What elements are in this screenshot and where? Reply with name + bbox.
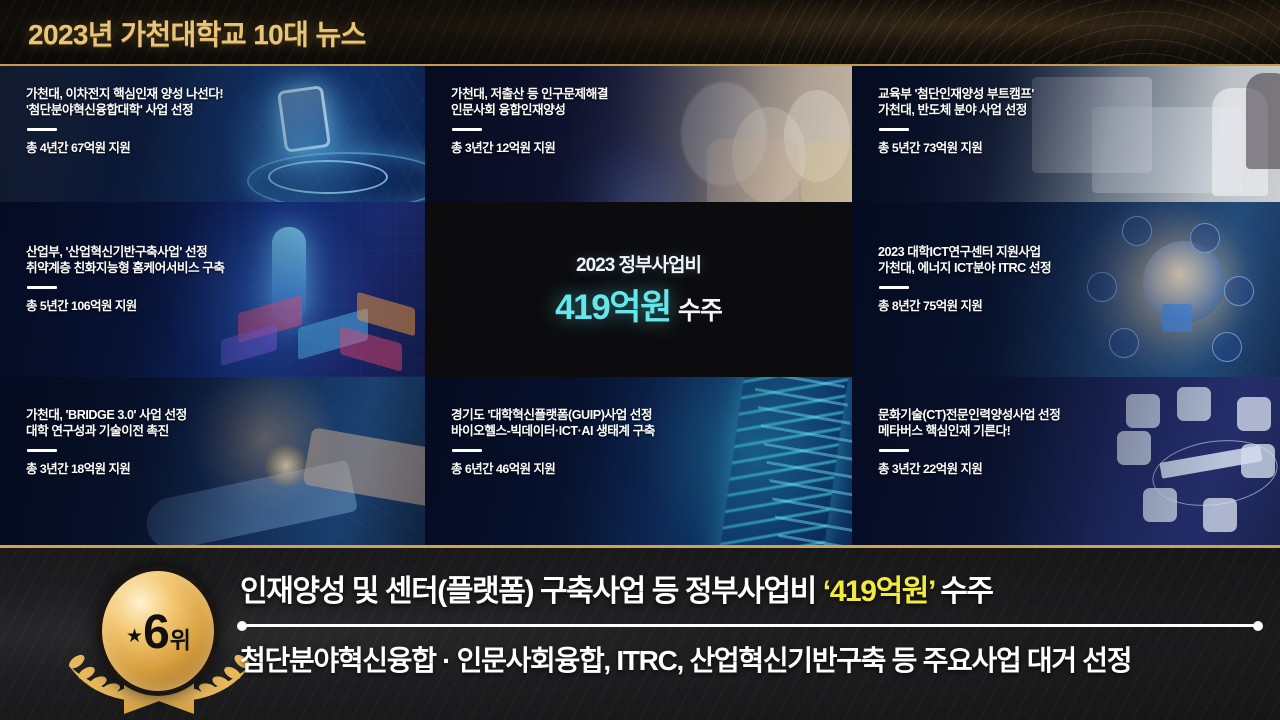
- card-headline-line2: 메타버스 핵심인재 기른다!: [878, 423, 1274, 439]
- card-rule: [27, 286, 57, 289]
- card-headline-line1: 문화기술(CT)전문인력양성사업 선정: [878, 407, 1274, 423]
- card-amount: 총 8년간 75억원 지원: [878, 296, 1274, 314]
- card-amount: 총 5년간 106억원 지원: [26, 296, 419, 314]
- card-rule: [27, 128, 57, 131]
- header-bar: 2023년 가천대학교 10대 뉴스: [0, 0, 1280, 66]
- banner-line1-highlight: ‘419억원’: [823, 575, 934, 608]
- summary-banner: ★ 6 위 인재양성 및 센터(플랫폼) 구축사업 등 정부사업비 ‘419억원…: [0, 545, 1280, 720]
- banner-line1-after: 수주: [934, 575, 993, 608]
- card-amount: 총 3년간 12억원 지원: [451, 138, 846, 156]
- page-title: 2023년 가천대학교 10대 뉴스: [28, 13, 366, 53]
- card-headline-line1: 산업부, '산업혁신기반구축사업' 선정: [26, 244, 419, 260]
- card-headline-line2: 가천대, 반도체 분야 사업 선정: [878, 102, 1274, 118]
- card-rule: [879, 286, 909, 289]
- banner-line1-before: 인재양성 및 센터(플랫폼) 구축사업 등 정부사업비: [240, 575, 823, 608]
- card-rule: [879, 128, 909, 131]
- card-amount: 총 3년간 18억원 지원: [26, 459, 419, 477]
- news-card-grid: 가천대, 이차전지 핵심인재 양성 나선다! '첨단분야혁신융합대학' 사업 선…: [0, 66, 1280, 545]
- card-amount: 총 3년간 22억원 지원: [878, 459, 1274, 477]
- card-rule: [879, 449, 909, 452]
- card-headline-line2: 가천대, 에너지 ICT분야 ITRC 선정: [878, 260, 1274, 276]
- rank-number: 6: [143, 609, 169, 657]
- center-label: 2023 정부사업비: [576, 250, 701, 277]
- news-card-1[interactable]: 가천대, 이차전지 핵심인재 양성 나선다! '첨단분야혁신융합대학' 사업 선…: [0, 66, 425, 202]
- news-card-6[interactable]: 가천대, 'BRIDGE 3.0' 사업 선정 대학 연구성과 기술이전 촉진 …: [0, 377, 425, 545]
- card-amount: 총 4년간 67억원 지원: [26, 138, 419, 156]
- center-amount: 419억원: [555, 279, 671, 330]
- header-arc-decoration: [760, 0, 1280, 66]
- banner-text-block: 인재양성 및 센터(플랫폼) 구축사업 등 정부사업비 ‘419억원’ 수주 첨…: [240, 566, 1260, 679]
- news-card-5[interactable]: 2023 대학ICT연구센터 지원사업 가천대, 에너지 ICT분야 ITRC …: [852, 202, 1280, 377]
- card-headline-line2: 취약계층 친화지능형 홈케어서비스 구축: [26, 260, 419, 276]
- card-rule: [452, 128, 482, 131]
- card-headline-line1: 가천대, 저출산 등 인구문제해결: [451, 86, 846, 102]
- card-headline-line2: '첨단분야혁신융합대학' 사업 선정: [26, 102, 419, 118]
- medal-disc: ★ 6 위: [97, 566, 219, 696]
- card-text-block: 가천대, 'BRIDGE 3.0' 사업 선정 대학 연구성과 기술이전 촉진 …: [26, 407, 419, 477]
- card-text-block: 교육부 '첨단인재양성 부트캠프' 가천대, 반도체 분야 사업 선정 총 5년…: [878, 86, 1274, 156]
- center-suffix: 수주: [678, 291, 722, 327]
- card-text-block: 가천대, 이차전지 핵심인재 양성 나선다! '첨단분야혁신융합대학' 사업 선…: [26, 86, 419, 156]
- card-headline-line1: 교육부 '첨단인재양성 부트캠프': [878, 86, 1274, 102]
- card-headline-line2: 대학 연구성과 기술이전 촉진: [26, 423, 419, 439]
- card-headline-line1: 가천대, 이차전지 핵심인재 양성 나선다!: [26, 86, 419, 102]
- rank-medal-badge: ★ 6 위: [62, 560, 257, 712]
- divider-dot-right: [1253, 621, 1263, 631]
- card-text-block: 2023 대학ICT연구센터 지원사업 가천대, 에너지 ICT분야 ITRC …: [878, 244, 1274, 314]
- card-headline-line2: 인문사회 융합인재양성: [451, 102, 846, 118]
- banner-line1: 인재양성 및 센터(플랫폼) 구축사업 등 정부사업비 ‘419억원’ 수주: [240, 566, 1260, 610]
- card-text-block: 경기도 '대학혁신플랫폼(GUIP)사업 선정 바이오헬스-빅데이터·ICT·A…: [451, 407, 846, 477]
- news-card-2[interactable]: 가천대, 저출산 등 인구문제해결 인문사회 융합인재양성 총 3년간 12억원…: [425, 66, 852, 202]
- card-rule: [452, 449, 482, 452]
- banner-divider: [242, 624, 1258, 627]
- card-amount: 총 5년간 73억원 지원: [878, 138, 1274, 156]
- news-card-4[interactable]: 산업부, '산업혁신기반구축사업' 선정 취약계층 친화지능형 홈케어서비스 구…: [0, 202, 425, 377]
- news-card-8[interactable]: 문화기술(CT)전문인력양성사업 선정 메타버스 핵심인재 기른다! 총 3년간…: [852, 377, 1280, 545]
- center-summary-panel: 2023 정부사업비 419억원 수주: [425, 202, 852, 377]
- card-headline-line1: 가천대, 'BRIDGE 3.0' 사업 선정: [26, 407, 419, 423]
- news-card-3[interactable]: 교육부 '첨단인재양성 부트캠프' 가천대, 반도체 분야 사업 선정 총 5년…: [852, 66, 1280, 202]
- center-amount-row: 419억원 수주: [555, 279, 722, 330]
- rank-unit: 위: [170, 629, 190, 652]
- card-text-block: 산업부, '산업혁신기반구축사업' 선정 취약계층 친화지능형 홈케어서비스 구…: [26, 244, 419, 314]
- divider-dot-left: [237, 621, 247, 631]
- card-headline-line1: 경기도 '대학혁신플랫폼(GUIP)사업 선정: [451, 407, 846, 423]
- card-headline-line1: 2023 대학ICT연구센터 지원사업: [878, 244, 1274, 260]
- card-text-block: 문화기술(CT)전문인력양성사업 선정 메타버스 핵심인재 기른다! 총 3년간…: [878, 407, 1274, 477]
- card-rule: [27, 449, 57, 452]
- card-text-block: 가천대, 저출산 등 인구문제해결 인문사회 융합인재양성 총 3년간 12억원…: [451, 86, 846, 156]
- star-icon: ★: [126, 627, 142, 646]
- banner-line2: 첨단분야혁신융합 · 인문사회융합, ITRC, 산업혁신기반구축 등 주요사업…: [240, 639, 1260, 679]
- news-card-7[interactable]: 경기도 '대학혁신플랫폼(GUIP)사업 선정 바이오헬스-빅데이터·ICT·A…: [425, 377, 852, 545]
- card-headline-line2: 바이오헬스-빅데이터·ICT·AI 생태계 구축: [451, 423, 846, 439]
- card-amount: 총 6년간 46억원 지원: [451, 459, 846, 477]
- news-infographic-page: 2023년 가천대학교 10대 뉴스 가천대, 이차전지 핵심인재 양성 나선다…: [0, 0, 1280, 720]
